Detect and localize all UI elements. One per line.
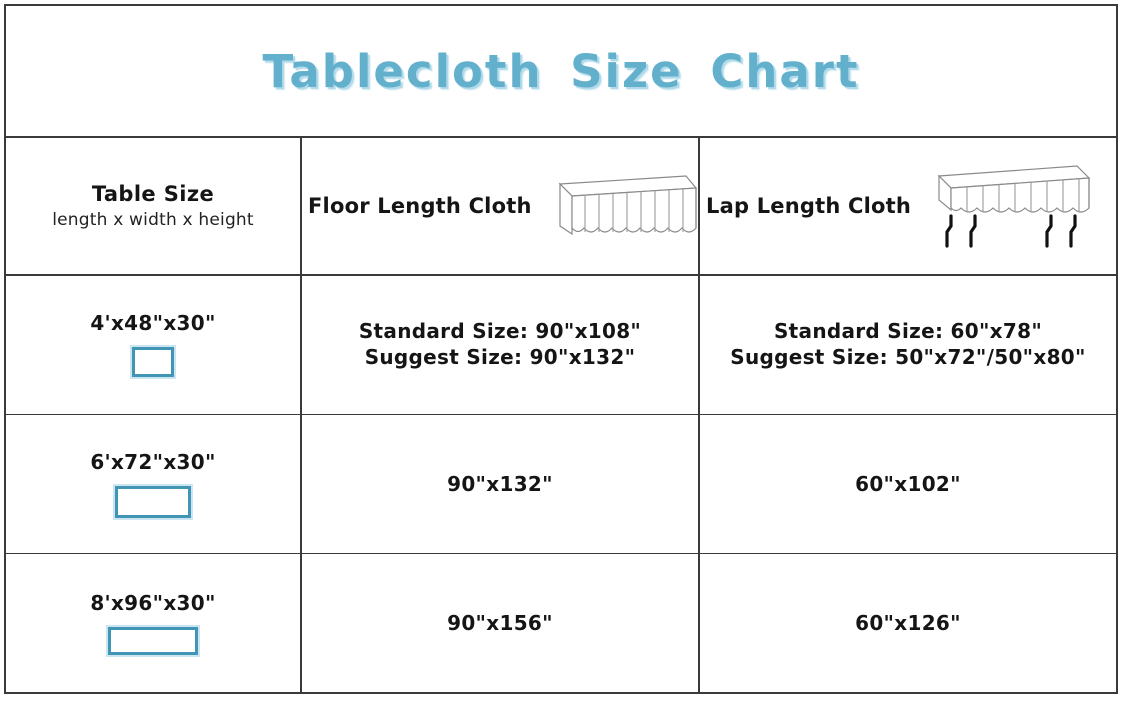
table-proportion-swatch [108,627,198,655]
page-title: Tablecloth Size Chart [263,45,860,98]
lap-length-header-label: Lap Length Cloth [706,194,911,218]
lap-standard-size: Standard Size: 60"x78" [774,318,1042,344]
floor-standard-size: 90"x132" [447,471,553,497]
lap-length-tablecloth-icon [917,160,1097,252]
floor-standard-size: 90"x156" [447,610,553,636]
table-size-header-main: Table Size [92,181,214,207]
table-row: 6'x72"x30" 90"x132" 60"x102" [6,414,1116,554]
title-band: Tablecloth Size Chart [6,6,1116,138]
cell-floor-length-size: Standard Size: 90"x108" Suggest Size: 90… [302,274,700,414]
cell-table-size: 6'x72"x30" [6,414,302,553]
chart-frame: Tablecloth Size Chart Table Size length … [4,4,1118,694]
floor-length-header-label: Floor Length Cloth [308,194,532,218]
cell-floor-length-size: 90"x132" [302,414,700,553]
table-size-value: 8'x96"x30" [90,591,215,615]
table-row: 8'x96"x30" 90"x156" 60"x126" [6,553,1116,692]
column-header-lap-length: Lap Length Cloth [700,138,1116,274]
chart-grid: Table Size length x width x height Floor… [6,138,1116,692]
floor-suggest-size: Suggest Size: 90"x132" [365,344,636,370]
cell-lap-length-size: Standard Size: 60"x78" Suggest Size: 50"… [700,274,1116,414]
cell-lap-length-size: 60"x126" [700,553,1116,692]
table-header-row: Table Size length x width x height Floor… [6,138,1116,276]
lap-standard-size: 60"x126" [855,610,961,636]
column-header-table-size: Table Size length x width x height [6,138,302,274]
table-size-value: 4'x48"x30" [90,311,215,335]
table-proportion-swatch [115,486,191,518]
cell-table-size: 4'x48"x30" [6,274,302,414]
lap-standard-size: 60"x102" [855,471,961,497]
column-header-floor-length: Floor Length Cloth [302,138,700,274]
table-proportion-swatch [132,347,174,377]
table-size-value: 6'x72"x30" [90,450,215,474]
floor-standard-size: Standard Size: 90"x108" [359,318,641,344]
cell-floor-length-size: 90"x156" [302,553,700,692]
cell-lap-length-size: 60"x102" [700,414,1116,553]
tablecloth-size-chart-page: Tablecloth Size Chart Table Size length … [0,0,1125,701]
lap-suggest-size: Suggest Size: 50"x72"/50"x80" [730,344,1086,370]
table-row: 4'x48"x30" Standard Size: 90"x108" Sugge… [6,274,1116,415]
table-size-header-sub: length x width x height [52,210,254,231]
cell-table-size: 8'x96"x30" [6,553,302,692]
floor-length-tablecloth-icon [538,166,698,246]
